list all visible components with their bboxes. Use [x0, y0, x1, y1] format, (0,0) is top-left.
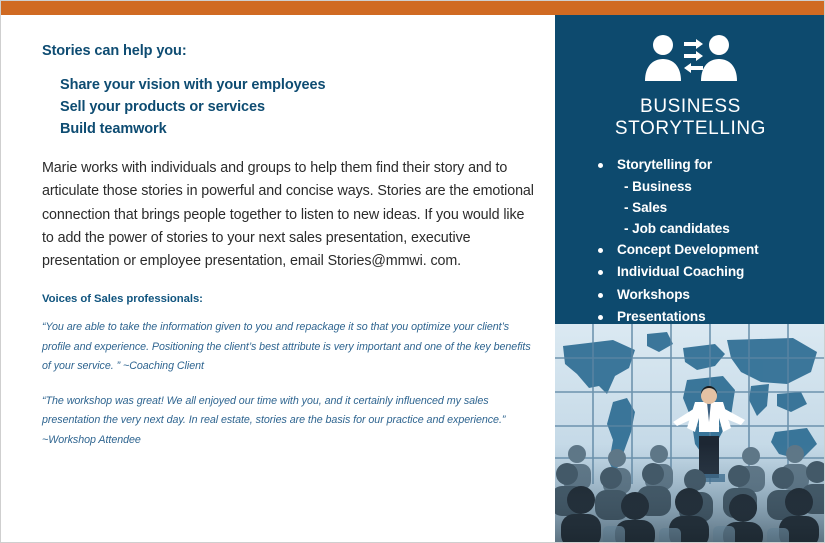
left-content-column: Stories can help you: Share your vision …	[1, 15, 555, 543]
benefit-item: Share your vision with your employees	[60, 74, 535, 96]
service-sub-item: - Business	[624, 176, 825, 197]
benefit-item: Build teamwork	[60, 118, 535, 140]
brochure-page: Stories can help you: Share your vision …	[0, 0, 825, 543]
service-sub-list: - Business - Sales - Job candidates	[617, 176, 825, 239]
sidebar-header: BUSINESS STORYTELLING	[555, 15, 825, 140]
top-orange-band	[1, 1, 825, 15]
right-sidebar: BUSINESS STORYTELLING Storytelling for -…	[555, 15, 825, 543]
benefit-item: Sell your products or services	[60, 96, 535, 118]
testimonial-quote: “The workshop was great! We all enjoyed …	[42, 392, 535, 451]
presentation-photo	[555, 324, 825, 543]
benefits-list: Share your vision with your employees Se…	[42, 74, 535, 140]
service-sub-item: - Job candidates	[624, 218, 825, 239]
brand-title-line2: STORYTELLING	[555, 118, 825, 140]
service-item: Individual Coaching	[595, 261, 825, 283]
voices-heading: Voices of Sales professionals:	[42, 293, 535, 305]
brand-title: BUSINESS STORYTELLING	[555, 96, 825, 140]
service-item: Concept Development	[595, 239, 825, 261]
testimonial-quote: “You are able to take the information gi…	[42, 318, 535, 377]
service-sub-item: - Sales	[624, 197, 825, 218]
service-item: Storytelling for - Business - Sales - Jo…	[595, 154, 825, 239]
two-people-talking-icon	[555, 33, 825, 88]
brand-title-line1: BUSINESS	[640, 96, 741, 117]
lead-heading: Stories can help you:	[42, 43, 535, 59]
body-paragraph: Marie works with individuals and groups …	[42, 157, 535, 273]
services-list: Storytelling for - Business - Sales - Jo…	[555, 154, 825, 328]
service-item: Workshops	[595, 284, 825, 306]
service-label: Storytelling for	[617, 157, 712, 172]
